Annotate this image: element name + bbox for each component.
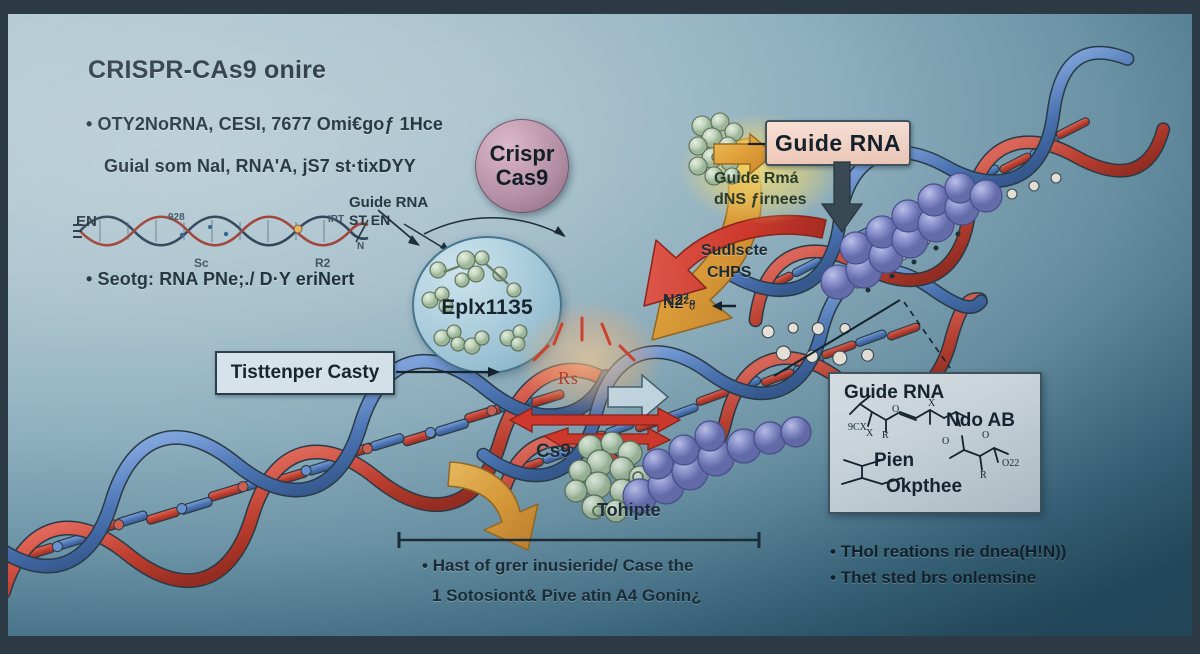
svg-text:X: X: [866, 428, 874, 439]
inset-leader-lines: [768, 292, 968, 384]
schematic-dna-strand: [70, 206, 370, 256]
right-bullet-1-text: THol reations rie dnea(H!N)): [841, 542, 1067, 561]
bullet-1-text: OTY2NoRNA, CESI, 7677 Omi€goƒ 1Hce: [98, 114, 444, 134]
bullet-2-text: Guial som Nal, RNA'A, jS7 st·tixDYY: [104, 156, 416, 176]
svg-text:R: R: [882, 430, 889, 441]
guide-rna-box[interactable]: Guide RNA: [765, 120, 911, 166]
inset-label-ndo-ab: Ndo AB: [946, 410, 1015, 432]
bullet-2: Guial som Nal, RNA'A, jS7 st·tixDYY: [104, 156, 416, 177]
treatment-box-label: Tisttenper Casty: [231, 362, 380, 384]
bullet-3: • Seotg: RNA PNe;./ D·Y eriNert: [86, 269, 354, 290]
bottom-bullet-2-text: 1 Sotosiont& Pive atin A4 Gonin¿: [432, 586, 702, 605]
purple-protein-chain-upper: [816, 174, 1026, 304]
glow-line-2: dNS ƒirnees: [714, 191, 806, 209]
right-bullet-1: • THol reations rie dnea(H!N)): [830, 542, 1066, 562]
bottom-bullet-1-text: Hast of grer inusieride/ Case the: [433, 556, 694, 575]
treatment-box-arrow: [396, 362, 506, 382]
bullet-1: • OTY2NoRNA, CESI, 7677 Omi€goƒ 1Hce: [86, 114, 443, 135]
svg-text:O22: O22: [1002, 458, 1019, 469]
dna-tick-r2: R2: [315, 256, 330, 270]
bullet-3-text: Seotg: RNA PNe;./ D·Y eriNert: [98, 269, 355, 289]
treatment-box[interactable]: Tisttenper Casty: [215, 351, 395, 395]
svg-text:O: O: [942, 436, 949, 447]
right-bullet-2-text: Thet sted brs onlemsine: [841, 568, 1037, 587]
right-bullet-2: • Thet sted brs onlemsine: [830, 568, 1036, 588]
glow-line-1: Guide Rmá: [714, 170, 806, 188]
dna-tick-sc: Sc: [194, 256, 209, 270]
inset-title: Guide RNA: [844, 382, 944, 404]
guide-rna-callout-title: Guide RNA: [349, 194, 428, 211]
measure-bracket: [396, 530, 762, 550]
glow-caption: Guide Rmá dNS ƒirnees: [714, 170, 806, 209]
svg-text:O: O: [892, 404, 899, 415]
red-arrow-line-1: Sudlscte: [701, 242, 768, 260]
svg-text:9CX: 9CX: [848, 422, 868, 433]
guide-rna-box-label: Guide RNA: [775, 130, 901, 157]
svg-text:R: R: [980, 470, 987, 481]
illustration-panel: EN 928 Sc R2 IRT N Guide RNA ST EN CRISP…: [8, 14, 1192, 636]
inset-label-okpthee: Okpthee: [886, 476, 962, 498]
crispr-cas9-circle[interactable]: Crispr Cas9: [475, 119, 569, 213]
red-arrow-caption: Sudlscte CHPS: [701, 242, 768, 282]
red-arrow-line-2: CHPS: [707, 264, 768, 282]
page-title: CRISPR-CAs9 onire: [88, 56, 326, 85]
cas9-circle-line1: Crispr: [490, 142, 555, 166]
vesicle-label: Eplx11З5: [441, 296, 532, 320]
inset-label-pien: Pien: [874, 450, 914, 472]
svg-text:₨: ₨: [558, 368, 578, 388]
chemistry-inset-box[interactable]: 9CXX OX RO OO22 R Guide RNA Ndo AB Pien …: [828, 372, 1042, 514]
n2-arrow: [708, 297, 738, 315]
tohipte-label: Tohipte: [597, 500, 661, 520]
bottom-bullet-1: • Hast of grer inusieride/ Case the: [422, 556, 693, 576]
cas9-circle-line2: Cas9: [496, 166, 549, 190]
dna-left-end-label: EN: [76, 213, 97, 230]
bottom-bullet-2: 1 Sotosiont& Pive atin A4 Gonin¿: [432, 586, 702, 606]
dna-tick-928: 928: [168, 212, 185, 223]
n2-label-text: N2²₀: [663, 292, 696, 309]
screenshot-root: EN 928 Sc R2 IRT N Guide RNA ST EN CRISP…: [0, 0, 1200, 654]
